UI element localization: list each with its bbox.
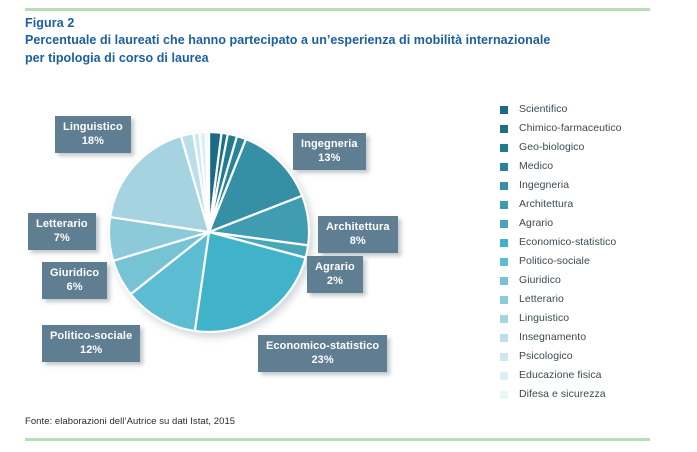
legend-item-label: Giuridico: [519, 274, 561, 287]
legend-item[interactable]: Politico-sociale: [497, 252, 677, 271]
pie-callout-giuridico: Giuridico6%: [42, 262, 107, 299]
pie-slices-group: [109, 132, 309, 332]
legend-item-label: Agrario: [519, 217, 553, 230]
chart-legend: ScientificoChimico-farmaceuticoGeo-biolo…: [497, 100, 677, 404]
legend-swatch-icon: [500, 353, 508, 361]
top-rule: [25, 8, 650, 11]
legend-swatch-icon: [500, 239, 508, 247]
callout-percent: 6%: [50, 280, 99, 294]
legend-item-label: Insegnamento: [519, 331, 586, 344]
legend-item-label: Architettura: [519, 198, 573, 211]
callout-label: Giuridico: [50, 267, 99, 279]
legend-item[interactable]: Insegnamento: [497, 328, 677, 347]
legend-item[interactable]: Agrario: [497, 214, 677, 233]
callout-percent: 2%: [315, 274, 355, 288]
legend-item-label: Chimico-farmaceutico: [519, 122, 622, 135]
pie-callout-ingegneria: Ingegneria13%: [293, 133, 366, 170]
legend-swatch-icon: [500, 391, 508, 399]
legend-swatch-icon: [500, 201, 508, 209]
pie-callout-letterario: Letterario7%: [28, 213, 96, 250]
callout-percent: 18%: [63, 134, 123, 148]
legend-item-label: Medico: [519, 160, 553, 173]
callout-percent: 13%: [301, 151, 358, 165]
legend-item[interactable]: Letterario: [497, 290, 677, 309]
pie-callout-linguistico: Linguistico18%: [55, 116, 131, 153]
legend-swatch-icon: [500, 315, 508, 323]
callout-label: Politico-sociale: [50, 330, 132, 342]
callout-label: Agrario: [315, 261, 355, 273]
bottom-rule: [25, 438, 650, 441]
legend-item-label: Educazione fisica: [519, 369, 602, 382]
legend-swatch-icon: [500, 125, 508, 133]
callout-percent: 8%: [326, 234, 390, 248]
figure-label: Figura 2: [25, 15, 625, 31]
callout-percent: 7%: [36, 231, 88, 245]
callout-percent: 23%: [266, 353, 379, 367]
legend-swatch-icon: [500, 163, 508, 171]
legend-swatch-icon: [500, 144, 508, 152]
legend-swatch-icon: [500, 334, 508, 342]
legend-item-label: Scientifico: [519, 103, 567, 116]
legend-item-label: Economico-statistico: [519, 236, 616, 249]
legend-item[interactable]: Medico: [497, 157, 677, 176]
legend-item[interactable]: Chimico-farmaceutico: [497, 119, 677, 138]
callout-label: Ingegneria: [301, 138, 358, 150]
legend-item[interactable]: Educazione fisica: [497, 366, 677, 385]
legend-item[interactable]: Difesa e sicurezza: [497, 385, 677, 404]
legend-item-label: Linguistico: [519, 312, 569, 325]
legend-item-label: Difesa e sicurezza: [519, 388, 606, 401]
legend-item[interactable]: Giuridico: [497, 271, 677, 290]
source-note: Fonte: elaborazioni dell’Autrice su dati…: [25, 416, 235, 427]
callout-label: Economico-statistico: [266, 340, 379, 352]
legend-swatch-icon: [500, 277, 508, 285]
legend-swatch-icon: [500, 258, 508, 266]
legend-item[interactable]: Geo-biologico: [497, 138, 677, 157]
figure-container: Figura 2 Percentuale di laureati che han…: [0, 0, 697, 452]
figure-title-line-1: Percentuale di laureati che hanno partec…: [25, 32, 605, 49]
pie-callout-agrario: Agrario2%: [307, 256, 363, 293]
legend-item-label: Psicologico: [519, 350, 573, 363]
legend-item-label: Ingegneria: [519, 179, 569, 192]
legend-item-label: Politico-sociale: [519, 255, 590, 268]
callout-percent: 12%: [50, 343, 132, 357]
callout-label: Linguistico: [63, 121, 123, 133]
legend-item-label: Geo-biologico: [519, 141, 584, 154]
legend-swatch-icon: [500, 372, 508, 380]
legend-item-label: Letterario: [519, 293, 564, 306]
legend-item[interactable]: Architettura: [497, 195, 677, 214]
callout-label: Letterario: [36, 218, 88, 230]
figure-title-line-2: per tipologia di corso di laurea: [25, 50, 605, 67]
legend-item[interactable]: Linguistico: [497, 309, 677, 328]
pie-callout-architettura: Architettura8%: [318, 216, 398, 253]
legend-item[interactable]: Ingegneria: [497, 176, 677, 195]
pie-callout-politico-sociale: Politico-sociale12%: [42, 325, 140, 362]
pie-callout-economico-statistico: Economico-statistico23%: [258, 335, 387, 372]
legend-item[interactable]: Scientifico: [497, 100, 677, 119]
title-block: Figura 2 Percentuale di laureati che han…: [25, 15, 625, 67]
legend-swatch-icon: [500, 106, 508, 114]
callout-label: Architettura: [326, 221, 390, 233]
legend-swatch-icon: [500, 182, 508, 190]
legend-item[interactable]: Psicologico: [497, 347, 677, 366]
legend-item[interactable]: Economico-statistico: [497, 233, 677, 252]
legend-swatch-icon: [500, 296, 508, 304]
legend-swatch-icon: [500, 220, 508, 228]
